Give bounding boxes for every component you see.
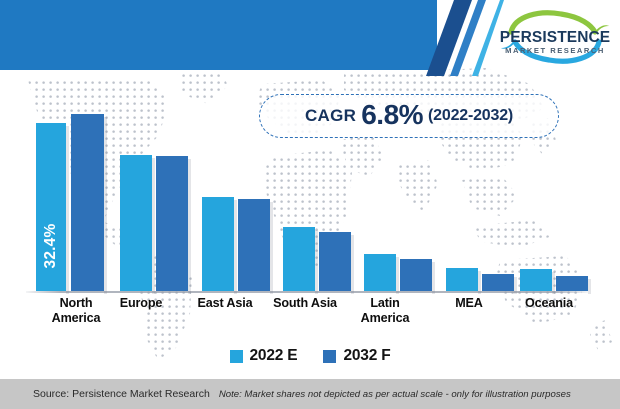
footer-bar: Source: Persistence Market Research Note… [0, 379, 620, 409]
category-label-mea: MEA [438, 296, 500, 311]
category-label-line: South Asia [272, 296, 338, 311]
bar-south-asia-2022-e [283, 227, 315, 291]
category-label-line: Europe [110, 296, 172, 311]
category-label-line: Latin [354, 296, 416, 311]
category-label-line: North [45, 296, 107, 311]
category-label-line: America [354, 311, 416, 326]
legend-label: 2022 E [250, 347, 298, 365]
infographic-root: Freeze and Thaw Systems Market By Region… [0, 0, 620, 409]
category-label-north-america: NorthAmerica [45, 296, 107, 326]
bar-value-label: 32.4% [42, 224, 60, 269]
bar-europe-2032-f [156, 156, 188, 291]
bar-latin-america-2032-f [400, 259, 432, 291]
category-label-oceania: Oceania [515, 296, 583, 311]
bar-oceania-2022-e [520, 269, 552, 291]
logo-persistence-market-research: PERSISTENCE MARKET RESEARCH [495, 6, 615, 68]
legend-item-2022-e[interactable]: 2022 E [230, 347, 298, 365]
footer-note: Note: Market shares not depicted as per … [219, 389, 571, 400]
cagr-badge: CAGR 6.8% (2022-2032) [259, 94, 559, 138]
legend-item-2032-f[interactable]: 2032 F [323, 347, 390, 365]
legend-swatch-icon [323, 350, 336, 363]
legend-label: 2032 F [343, 347, 390, 365]
chart-legend: 2022 E2032 F [0, 347, 620, 365]
cagr-value: 6.8% [361, 99, 423, 131]
category-label-latin-america: LatinAmerica [354, 296, 416, 326]
svg-text:PERSISTENCE: PERSISTENCE [500, 29, 611, 46]
footer-source: Source: Persistence Market Research [33, 388, 210, 400]
diagonal-slashes-decoration [424, 0, 504, 76]
svg-text:MARKET RESEARCH: MARKET RESEARCH [505, 46, 605, 55]
legend-swatch-icon [230, 350, 243, 363]
category-label-south-asia: South Asia [272, 296, 338, 311]
category-label-line: America [45, 311, 107, 326]
category-label-europe: Europe [110, 296, 172, 311]
cagr-label: CAGR [305, 106, 356, 126]
category-label-line: East Asia [192, 296, 258, 311]
bar-oceania-2032-f [556, 276, 588, 291]
cagr-period: (2022-2032) [428, 107, 513, 125]
header-band [0, 0, 437, 70]
bar-mea-2022-e [446, 268, 478, 291]
bar-east-asia-2022-e [202, 197, 234, 291]
bar-europe-2022-e [120, 155, 152, 291]
category-label-line: Oceania [515, 296, 583, 311]
category-label-line: MEA [438, 296, 500, 311]
bar-south-asia-2032-f [319, 232, 351, 291]
bar-mea-2032-f [482, 274, 514, 291]
bar-east-asia-2032-f [238, 199, 270, 291]
bar-north-america-2032-f [71, 114, 104, 291]
bar-latin-america-2022-e [364, 254, 396, 291]
chart-baseline [26, 291, 588, 293]
category-label-east-asia: East Asia [192, 296, 258, 311]
bar-north-america-2022-e: 32.4% [36, 123, 66, 291]
